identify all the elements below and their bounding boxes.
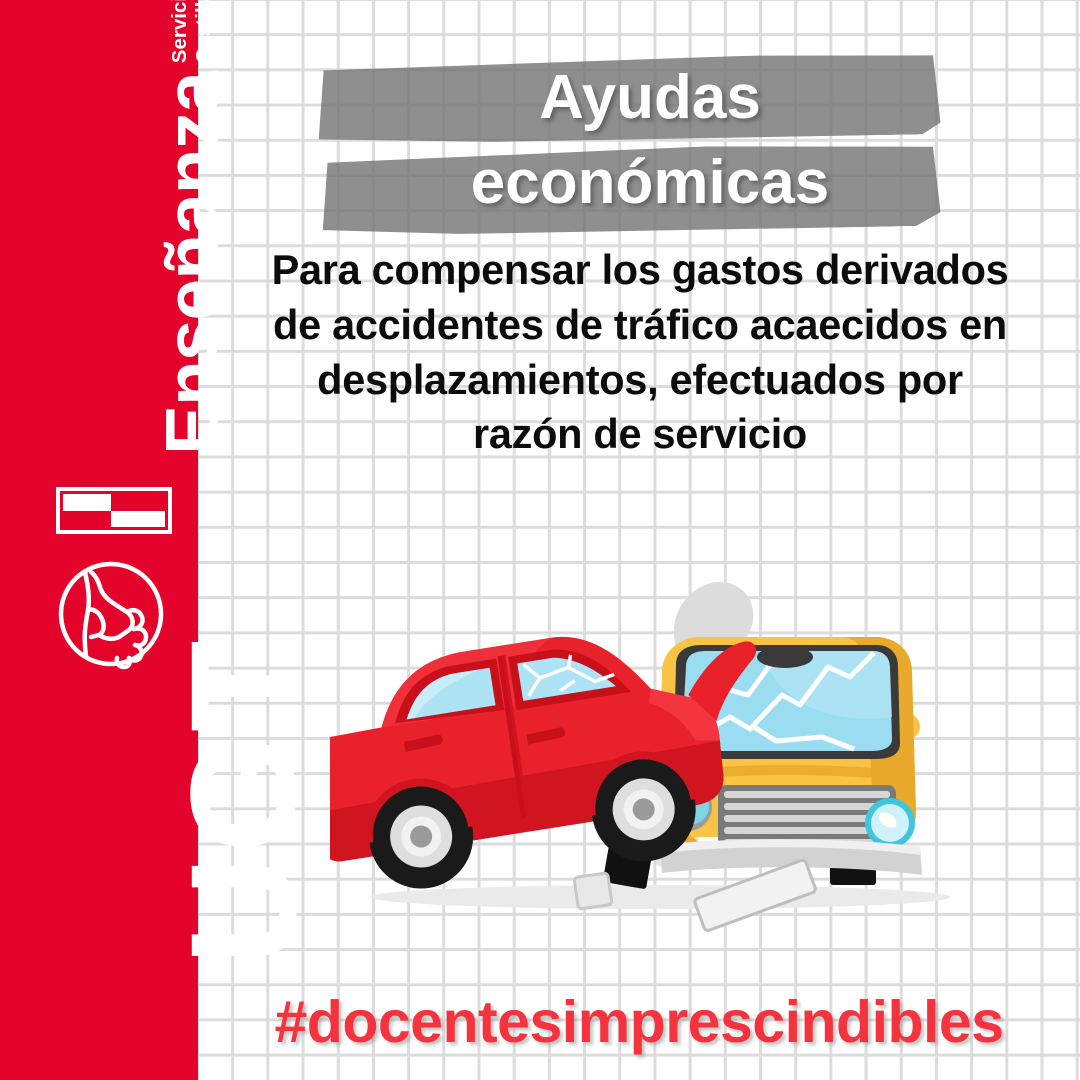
body-line-3: desplazamientos, efectuados por — [210, 353, 1070, 408]
body-line-4: razón de servicio — [210, 407, 1070, 462]
ground-shadow — [370, 885, 950, 909]
body-paragraph: Para compensar los gastos derivados de a… — [210, 243, 1070, 462]
subtitle-line-1: Servicios Públicos — [168, 0, 191, 63]
subtitle-line-2: Castilla y León — [192, 0, 215, 63]
organisation-subtitle: Servicios Públicos Castilla y León — [168, 0, 224, 63]
body-line-1: Para compensar los gastos derivados — [210, 243, 1070, 298]
flag-quadrant-bottom-right — [111, 511, 165, 528]
ugt-handshake-icon — [55, 558, 167, 670]
debris — [574, 873, 612, 909]
title-line-2: económicas — [110, 152, 1080, 214]
ugt-acronym: UGT — [168, 636, 318, 965]
car-crash-illustration — [330, 545, 970, 945]
body-line-2: de accidentes de tráfico acaecidos en — [210, 298, 1070, 353]
castilla-y-leon-flag-icon — [56, 487, 172, 534]
flag-quadrant-top-left — [63, 494, 111, 511]
flag-quadrant-top-right — [111, 494, 165, 511]
fallen-license-plate — [694, 859, 817, 931]
campaign-hashtag: #docentesimprescindibles — [198, 988, 1080, 1056]
poster-canvas: Enseñanza Servicios Públicos Castilla y … — [0, 0, 1080, 1080]
flag-icon-quadrants — [63, 494, 165, 527]
yellow-car-mirror-nub — [757, 646, 813, 668]
flag-quadrant-bottom-left — [63, 511, 111, 528]
title-line-1: Ayudas — [110, 67, 1080, 129]
